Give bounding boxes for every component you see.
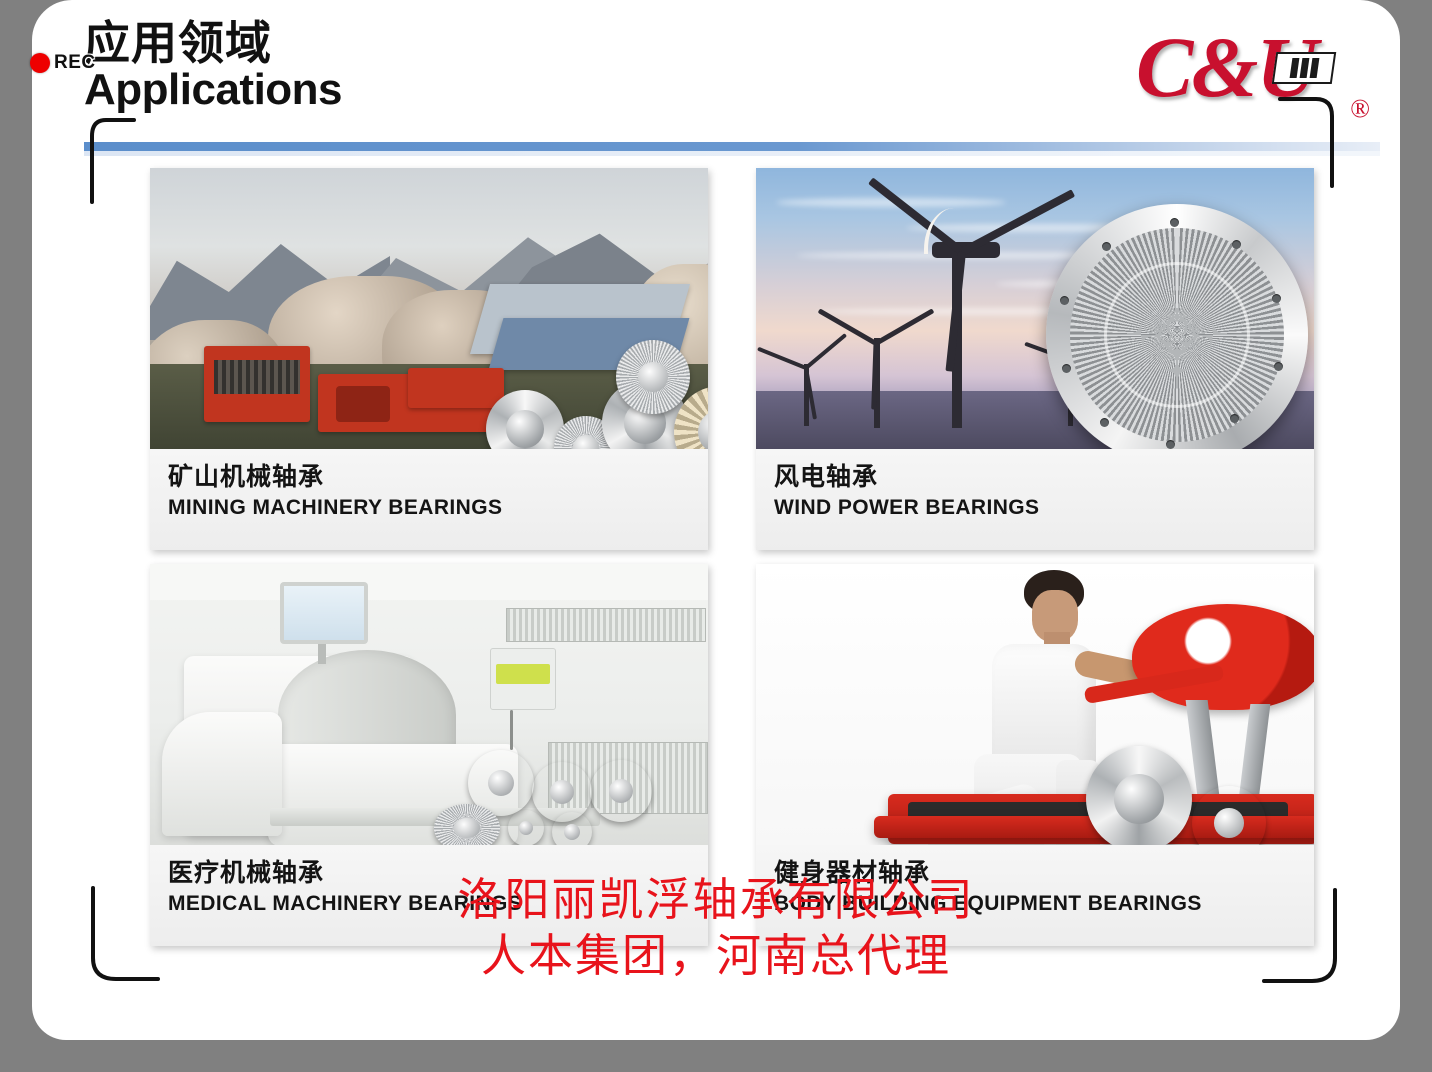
card-title-english: WIND POWER BEARINGS xyxy=(774,496,1296,521)
brand-logo: C&U ® xyxy=(1136,30,1366,130)
card-title-english: MINING MACHINERY BEARINGS xyxy=(168,496,690,521)
page-title-chinese: 应用领域 xyxy=(84,20,272,66)
registered-trademark-icon: ® xyxy=(1350,94,1370,124)
application-card-mining[interactable]: 矿山机械轴承 MINING MACHINERY BEARINGS xyxy=(150,168,708,550)
mining-machinery-photo xyxy=(150,168,708,449)
header-divider xyxy=(84,142,1380,151)
recording-label: REC xyxy=(54,52,96,74)
application-card-body-building[interactable]: 健身器材轴承 BODY BUILDING EQUIPMENT BEARINGS xyxy=(756,564,1314,946)
body-building-equipment-photo xyxy=(756,564,1314,845)
card-title-chinese: 健身器材轴承 xyxy=(774,859,1296,887)
page-title-english: Applications xyxy=(84,68,342,112)
application-card-wind-power[interactable]: 风电轴承 WIND POWER BEARINGS xyxy=(756,168,1314,550)
card-title-chinese: 矿山机械轴承 xyxy=(168,463,690,491)
recording-indicator: REC xyxy=(30,52,96,74)
card-caption-body-building: 健身器材轴承 BODY BUILDING EQUIPMENT BEARINGS xyxy=(756,845,1314,946)
slide-panel: 应用领域 Applications C&U ® xyxy=(32,0,1400,1040)
card-caption-mining: 矿山机械轴承 MINING MACHINERY BEARINGS xyxy=(150,449,708,550)
card-caption-wind-power: 风电轴承 WIND POWER BEARINGS xyxy=(756,449,1314,550)
card-title-chinese: 医疗机械轴承 xyxy=(168,859,690,887)
card-title-chinese: 风电轴承 xyxy=(774,463,1296,491)
card-title-english: MEDICAL MACHINERY BEARINGS xyxy=(168,892,690,917)
applications-grid: 矿山机械轴承 MINING MACHINERY BEARINGS xyxy=(150,168,1314,946)
card-title-english: BODY BUILDING EQUIPMENT BEARINGS xyxy=(774,892,1296,917)
card-caption-medical: 医疗机械轴承 MEDICAL MACHINERY BEARINGS xyxy=(150,845,708,946)
application-card-medical[interactable]: 医疗机械轴承 MEDICAL MACHINERY BEARINGS xyxy=(150,564,708,946)
header-divider-soft xyxy=(84,151,1380,156)
wind-power-photo xyxy=(756,168,1314,449)
medical-machinery-photo xyxy=(150,564,708,845)
record-dot-icon xyxy=(30,53,50,73)
roller-bearing-icon xyxy=(1272,52,1336,84)
